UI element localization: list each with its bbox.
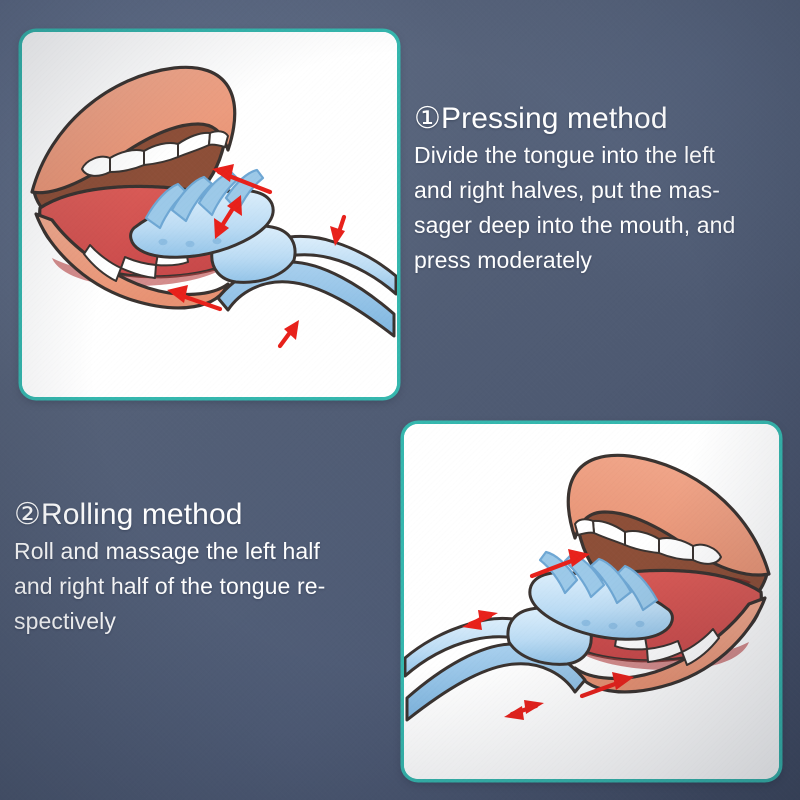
step-2-body-line-1: Roll and massage the left half (14, 534, 394, 569)
step-2-title: ②Rolling method (14, 496, 394, 534)
pressing-method-illustration (22, 32, 397, 397)
caption-rolling-method: ②Rolling method Roll and massage the lef… (14, 496, 394, 639)
illustration-panel-rolling (404, 424, 779, 779)
step-2-body-line-3: spectively (14, 604, 394, 639)
step-1-title: ①Pressing method (414, 100, 786, 138)
illustration-panel-pressing (22, 32, 397, 397)
step-1-body-line-2: and right halves, put the mas- (414, 173, 786, 208)
step-2-body: Roll and massage the left half and right… (14, 534, 394, 639)
step-1-body-line-1: Divide the tongue into the left (414, 138, 786, 173)
caption-pressing-method: ①Pressing method Divide the tongue into … (414, 100, 786, 278)
step-2-body-line-2: and right half of the tongue re- (14, 569, 394, 604)
step-1-body: Divide the tongue into the left and righ… (414, 138, 786, 278)
rolling-method-illustration (404, 424, 779, 779)
step-1-body-line-3: sager deep into the mouth, and (414, 208, 786, 243)
step-1-body-line-4: press moderately (414, 243, 786, 278)
instruction-infographic: ①Pressing method Divide the tongue into … (0, 0, 800, 800)
